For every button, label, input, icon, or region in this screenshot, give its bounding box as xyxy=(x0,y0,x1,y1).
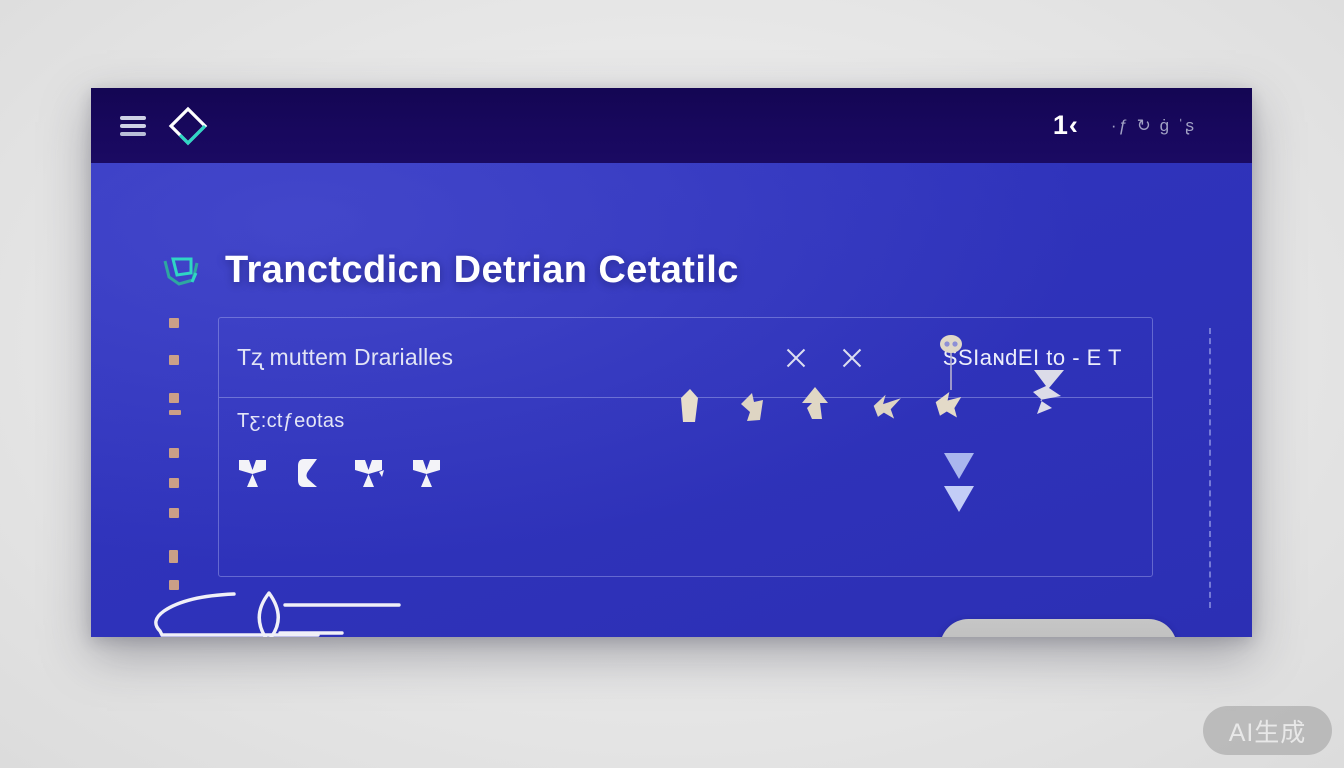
cursor-arrow-icon-3[interactable] xyxy=(798,384,832,422)
balloon-handle-icon xyxy=(938,334,964,392)
bowtie-icon-1[interactable] xyxy=(237,456,268,490)
back-badge-number: 1 xyxy=(1053,110,1067,141)
back-badge[interactable]: 1 ‹ xyxy=(1053,110,1077,141)
chevron-left-icon: ‹ xyxy=(1069,110,1077,141)
cursor-arrow-icon-1[interactable] xyxy=(674,386,708,424)
ai-generated-watermark: AI生成 xyxy=(1203,706,1332,755)
topbar-right-group: 1 ‹ ·ƒ ↻ ġ ˈʂ xyxy=(1053,110,1252,141)
page-header: Tranctcdicn Detrian Cetatilc xyxy=(159,249,739,292)
bowtie-icon-4[interactable] xyxy=(411,456,442,490)
top-app-bar: 1 ‹ ·ƒ ↻ ġ ˈʂ xyxy=(91,88,1252,163)
bracket-icon-2[interactable] xyxy=(295,456,326,490)
topbar-left-group xyxy=(91,106,208,146)
hamburger-bar xyxy=(120,116,146,120)
topbar-status-glyphs: ·ƒ ↻ ġ ˈʂ xyxy=(1111,116,1196,136)
section-label: Tƹ:ctƒeotas xyxy=(237,410,345,433)
rail-marker-6 xyxy=(169,478,179,488)
left-marker-rail xyxy=(169,318,181,588)
cursor-arrow-icon-4[interactable] xyxy=(872,386,906,424)
detail-row-label: Tʐ muttem Drarialles xyxy=(219,344,453,371)
wireframe-sketch-graphic xyxy=(146,583,411,637)
triangle-down-icon-1[interactable] xyxy=(944,453,974,479)
cursor-arrow-icon-2[interactable] xyxy=(736,388,770,426)
pointer-icon-cluster xyxy=(674,328,1104,503)
rail-marker-8 xyxy=(169,550,178,563)
cancel-button[interactable]: Cancce xyxy=(940,619,1177,637)
hamburger-bar xyxy=(120,132,146,136)
rail-marker-5 xyxy=(169,448,179,458)
hamburger-bar xyxy=(120,124,146,128)
rail-marker-4 xyxy=(169,410,181,415)
hourglass-icon-6[interactable] xyxy=(1030,366,1068,418)
dashed-divider xyxy=(1209,328,1211,608)
bowtie-icon-strip xyxy=(237,456,442,490)
teal-abstract-mark-icon xyxy=(159,251,203,291)
page-title: Tranctcdicn Detrian Cetatilc xyxy=(225,249,739,292)
rail-marker-7 xyxy=(169,508,179,518)
hamburger-icon[interactable] xyxy=(120,116,146,136)
triangle-down-icon-2[interactable] xyxy=(944,486,974,512)
app-body: Tranctcdicn Detrian Cetatilc Tʐ muttem D… xyxy=(91,163,1252,637)
bowtie-bird-icon-3[interactable] xyxy=(353,456,384,490)
detail-panel: Tʐ muttem Drarialles SSIaɴdEІ to - E T T… xyxy=(218,317,1153,577)
rail-marker-1 xyxy=(169,318,179,328)
diamond-logo-icon[interactable] xyxy=(168,106,208,146)
app-window: 1 ‹ ·ƒ ↻ ġ ˈʂ xyxy=(91,88,1252,637)
rail-marker-3 xyxy=(169,393,179,403)
rail-marker-2 xyxy=(169,355,179,365)
